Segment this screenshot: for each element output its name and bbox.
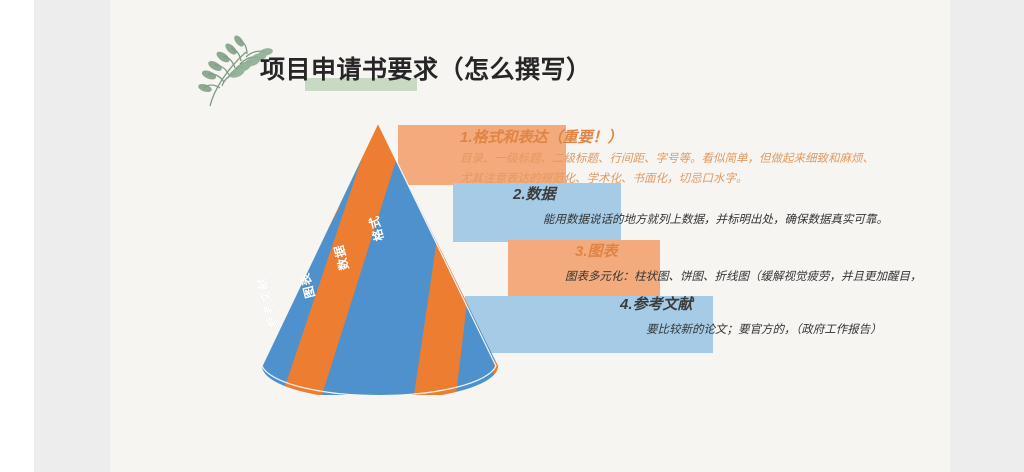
item-2-heading: 2.数据	[513, 183, 950, 204]
slide-canvas: 项目申请书要求（怎么撰写）	[0, 0, 1024, 472]
item-block-1: 1.格式和表达（重要！） 目录、一级标题、二级标题、行间距、字号等。看似简单，但…	[460, 126, 950, 189]
title-block: 项目申请书要求（怎么撰写）	[150, 28, 670, 100]
cone-label-4: 参考文献	[252, 275, 281, 330]
page-title: 项目申请书要求（怎么撰写）	[260, 50, 592, 86]
right-gutter	[950, 0, 1024, 472]
item-3-heading: 3.图表	[575, 240, 950, 261]
left-gutter	[34, 0, 110, 472]
cone-label-1: 格式	[365, 214, 388, 243]
item-block-4: 4.参考文献 要比较新的论文；要官方的，（政府工作报告）	[618, 293, 950, 340]
item-3-body-line-1: 图表多元化：柱状图、饼图、折线图（缓解视觉疲劳，并且更加醒目，	[565, 269, 950, 287]
slide-area: 项目申请书要求（怎么撰写）	[110, 0, 950, 472]
item-4-heading: 4.参考文献	[620, 293, 950, 314]
item-1-heading: 1.格式和表达（重要！）	[460, 126, 950, 147]
item-block-3: 3.图表 图表多元化：柱状图、饼图、折线图（缓解视觉疲劳，并且更加醒目，	[565, 240, 950, 287]
item-block-2: 2.数据 能用数据说话的地方就列上数据，并标明出处，确保数据真实可靠。	[505, 183, 950, 230]
cone-label-2: 数据	[330, 243, 353, 272]
cone-label-3: 图表	[296, 271, 319, 300]
item-4-body-line-1: 要比较新的论文；要官方的，（政府工作报告）	[646, 322, 950, 340]
item-1-body-line-1: 目录、一级标题、二级标题、行间距、字号等。看似简单，但做起来细致和麻烦、	[460, 151, 950, 169]
item-2-body-line-1: 能用数据说话的地方就列上数据，并标明出处，确保数据真实可靠。	[543, 212, 950, 230]
